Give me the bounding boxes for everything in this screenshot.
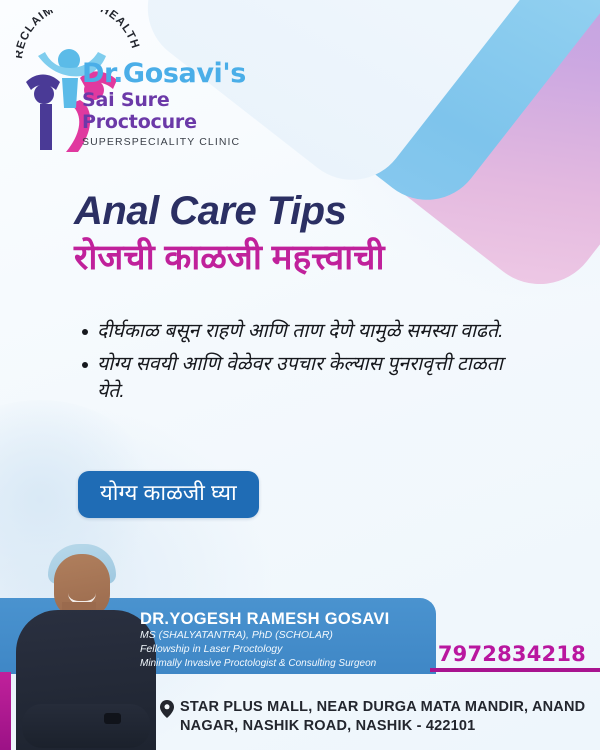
address-text: STAR PLUS MALL, NEAR DURGA MATA MANDIR, …	[180, 698, 585, 736]
list-item-text: योग्य सवयी आणि वेळेवर उपचार केल्यास पुनर…	[97, 351, 532, 406]
doctor-credentials: DR.YOGESH RAMESH GOSAVI MS (SHALYATANTRA…	[140, 610, 440, 670]
logo-wordmark: Dr.Gosavi's Sai Sure Proctocure SUPERSPE…	[82, 60, 244, 147]
clinic-logo: RECLAIM YOUR HEALTH Dr.Gosavi's Sai Sure…	[14, 8, 244, 158]
logo-line-secondary: Sai Sure Proctocure	[82, 90, 244, 134]
logo-line-tagline: SUPERSPECIALITY CLINIC	[82, 137, 244, 148]
headline-english: Anal Care Tips	[74, 190, 544, 232]
cta-button[interactable]: योग्य काळजी घ्या	[78, 471, 259, 518]
logo-line-primary: Dr.Gosavi's	[82, 60, 244, 87]
location-pin-icon	[160, 700, 174, 718]
wristwatch	[104, 713, 121, 724]
phone-underline-rule	[430, 668, 600, 672]
address-line-2: NAGAR, NASHIK ROAD, NASHIK - 422101	[180, 717, 585, 736]
left-accent-bar	[0, 672, 11, 750]
doctor-fellowship: Fellowship in Laser Proctology	[140, 643, 440, 657]
clinic-address: STAR PLUS MALL, NEAR DURGA MATA MANDIR, …	[160, 698, 592, 736]
bullet-dot-icon	[82, 362, 88, 368]
doctor-arms	[22, 704, 150, 748]
phone-number[interactable]: 7972834218	[438, 642, 586, 666]
doctor-qualification: MS (SHALYATANTRA), PhD (SCHOLAR)	[140, 629, 440, 643]
poster-canvas: RECLAIM YOUR HEALTH Dr.Gosavi's Sai Sure…	[0, 0, 600, 750]
tips-list: दीर्घकाळ बसून राहणे आणि ताण देणे यामुळे …	[82, 318, 532, 411]
list-item-text: दीर्घकाळ बसून राहणे आणि ताण देणे यामुळे …	[97, 318, 504, 346]
headline-block: Anal Care Tips रोजची काळजी महत्त्वाची	[74, 190, 544, 280]
doctor-name: DR.YOGESH RAMESH GOSAVI	[140, 610, 440, 629]
list-item: योग्य सवयी आणि वेळेवर उपचार केल्यास पुनर…	[82, 351, 532, 406]
list-item: दीर्घकाळ बसून राहणे आणि ताण देणे यामुळे …	[82, 318, 532, 346]
headline-marathi: रोजची काळजी महत्त्वाची	[74, 236, 544, 280]
address-line-1: STAR PLUS MALL, NEAR DURGA MATA MANDIR, …	[180, 698, 585, 717]
doctor-specialty: Minimally Invasive Proctologist & Consul…	[140, 657, 440, 670]
bullet-dot-icon	[82, 329, 88, 335]
